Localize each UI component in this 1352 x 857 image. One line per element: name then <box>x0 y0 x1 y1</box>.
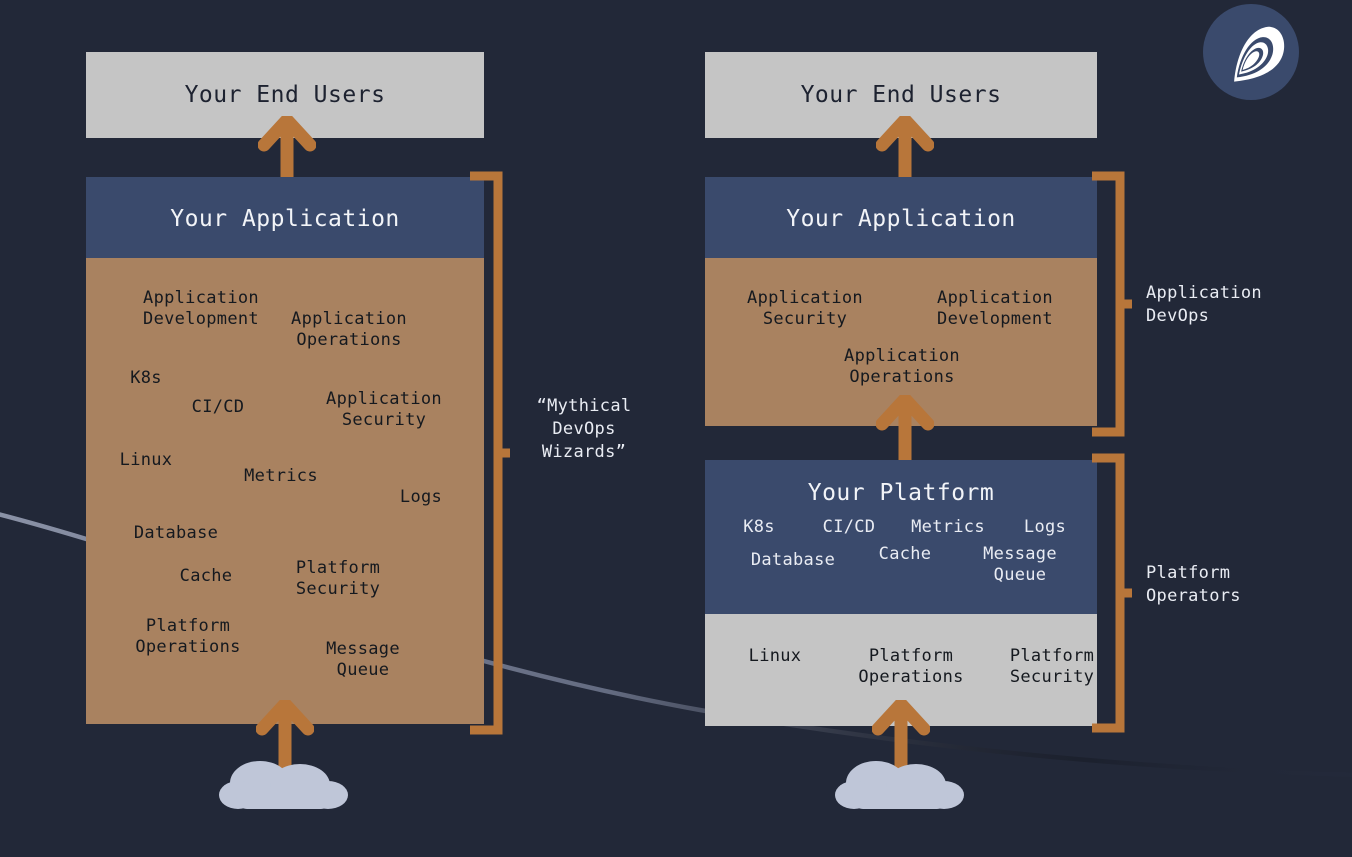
right-tag-cache: Cache <box>860 544 950 565</box>
right-bracket-label-platform-operators: Platform Operators <box>1146 562 1334 608</box>
left-tag-application-security: Application Security <box>309 389 459 431</box>
right-arrow-platform-to-app <box>876 395 934 463</box>
wave-swirl-logo <box>1177 4 1325 100</box>
left-application-block: Your Application <box>86 177 484 258</box>
left-tag-ci-cd: CI/CD <box>178 397 258 418</box>
left-tag-platform-security: Platform Security <box>263 558 413 600</box>
right-arrow-app-to-users <box>876 116 934 178</box>
right-tag-message-queue: Message Queue <box>955 544 1085 586</box>
right-tag-application-operations: Application Operations <box>817 346 987 388</box>
right-tag-linux: Linux <box>727 646 823 667</box>
right-tag-metrics: Metrics <box>895 517 1001 538</box>
right-tag-application-development: Application Development <box>910 288 1080 330</box>
right-tag-database: Database <box>733 550 853 571</box>
right-application-label: Your Application <box>705 206 1097 232</box>
left-application-label: Your Application <box>86 206 484 232</box>
left-tag-application-operations: Application Operations <box>274 309 424 351</box>
right-bracket-platform-operators <box>1092 452 1132 734</box>
right-tag-application-security: Application Security <box>725 288 885 330</box>
left-end-users-label: Your End Users <box>86 82 484 108</box>
right-platform-block: Your Platform K8s CI/CD Metrics Logs Dat… <box>705 460 1097 614</box>
left-arrow-app-to-users <box>258 116 316 178</box>
right-bracket-label-application-devops: Application DevOps <box>1146 282 1334 328</box>
right-end-users-label: Your End Users <box>705 82 1097 108</box>
right-platform-label: Your Platform <box>705 480 1097 506</box>
right-tag-ci-cd: CI/CD <box>807 517 891 538</box>
left-bracket-label: “Mythical DevOps Wizards” <box>516 395 652 464</box>
left-tag-platform-operations: Platform Operations <box>108 616 268 658</box>
left-tag-message-queue: Message Queue <box>288 639 438 681</box>
right-tag-logs: Logs <box>1005 517 1085 538</box>
diagram-canvas: Your End Users Your Application Applicat… <box>0 0 1352 857</box>
right-tag-k8s: K8s <box>717 517 801 538</box>
right-application-block: Your Application <box>705 177 1097 258</box>
left-tag-linux: Linux <box>106 450 186 471</box>
left-tag-metrics: Metrics <box>228 466 334 487</box>
left-tag-database: Database <box>121 523 231 544</box>
left-tag-application-development: Application Development <box>126 288 276 330</box>
cloud-left <box>218 757 350 819</box>
left-tag-logs: Logs <box>376 487 466 508</box>
right-bracket-application-devops <box>1092 170 1132 438</box>
left-tag-k8s: K8s <box>106 368 186 389</box>
left-bracket-mythical-devops-wizards <box>470 168 510 738</box>
right-tag-platform-operations: Platform Operations <box>831 646 991 688</box>
left-tag-cache: Cache <box>161 566 251 587</box>
cloud-right <box>834 757 966 819</box>
left-responsibilities-block: Application Development Application Oper… <box>86 258 484 724</box>
